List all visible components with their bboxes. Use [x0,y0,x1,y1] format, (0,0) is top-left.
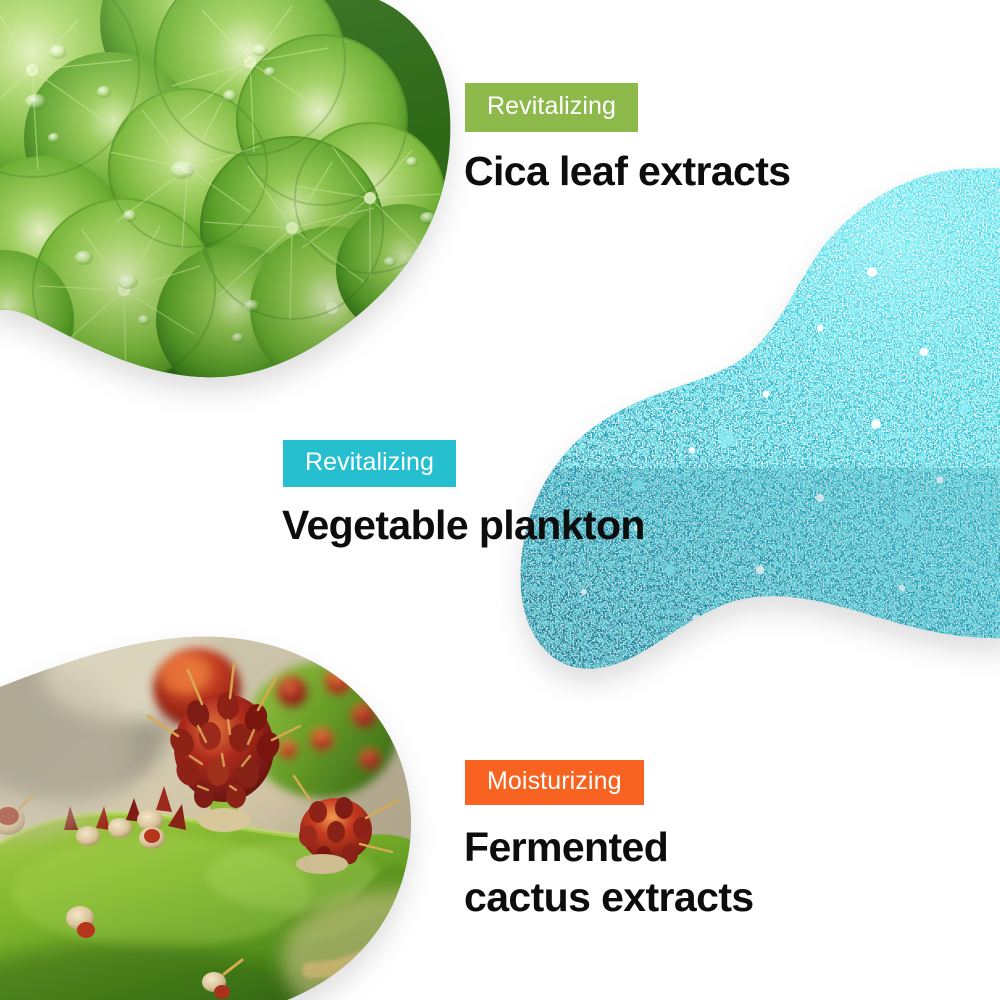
title-cica-leaf-extracts: Cica leaf extracts [464,146,791,196]
cica-leaf-image-blob [0,0,462,400]
title-fermented-cactus-extracts: Fermented cactus extracts [464,822,754,922]
plankton-image-blob [520,168,1000,678]
cactus-illustration [0,630,432,1000]
plankton-texture-illustration [520,168,1000,678]
title-vegetable-plankton: Vegetable plankton [282,500,645,550]
badge-cica-revitalizing: Revitalizing [465,83,638,132]
badge-plankton-revitalizing: Revitalizing [283,440,456,487]
cactus-image-blob [0,630,432,1000]
cica-leaf-illustration [0,0,462,400]
ingredient-highlights-graphic: Revitalizing Cica leaf extracts Revitali… [0,0,1000,1000]
badge-cactus-moisturizing: Moisturizing [465,760,644,805]
